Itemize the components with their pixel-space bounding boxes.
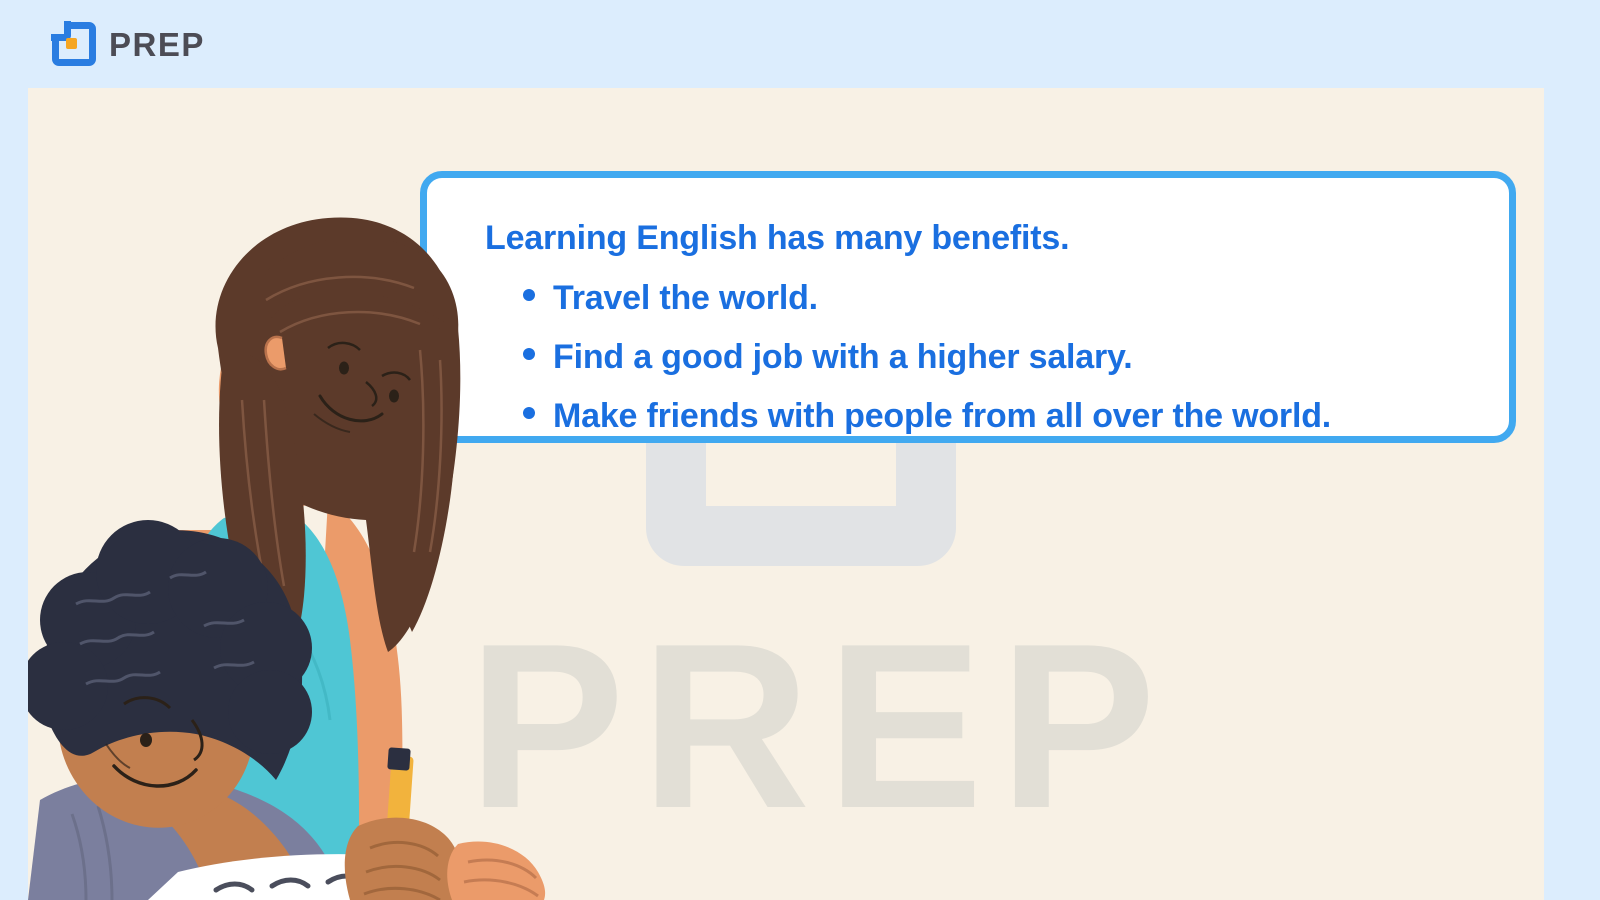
prep-watermark-text: PREP	[468, 608, 1172, 843]
prep-logo-icon	[52, 22, 96, 66]
brand-wordmark: PREP	[109, 28, 205, 61]
brand-logo[interactable]: PREP	[52, 22, 205, 66]
list-item-label: Make friends with people from all over t…	[553, 397, 1331, 436]
list-item: Make friends with people from all over t…	[485, 397, 1509, 436]
list-item: Travel the world.	[485, 279, 1509, 318]
list-item: Find a good job with a higher salary.	[485, 338, 1509, 377]
logo-orange-dot-icon	[66, 38, 77, 49]
list-item-label: Travel the world.	[553, 279, 818, 318]
adult-eye-left	[339, 362, 349, 375]
illustration-svg	[28, 200, 568, 900]
child-hair-puff	[228, 670, 312, 754]
page-header: PREP	[0, 0, 1600, 88]
content-panel: PREP Learning English has many benefits.…	[28, 88, 1544, 900]
list-item-label: Find a good job with a higher salary.	[553, 338, 1132, 377]
illustration-woman-and-child	[28, 200, 568, 900]
child-eye	[140, 733, 152, 747]
benefits-list: Travel the world. Find a good job with a…	[485, 279, 1509, 436]
adult-eye-right	[389, 390, 399, 403]
benefits-card: Learning English has many benefits. Trav…	[420, 171, 1516, 443]
card-title: Learning English has many benefits.	[485, 220, 1509, 257]
pencil-ferrule	[387, 747, 410, 770]
